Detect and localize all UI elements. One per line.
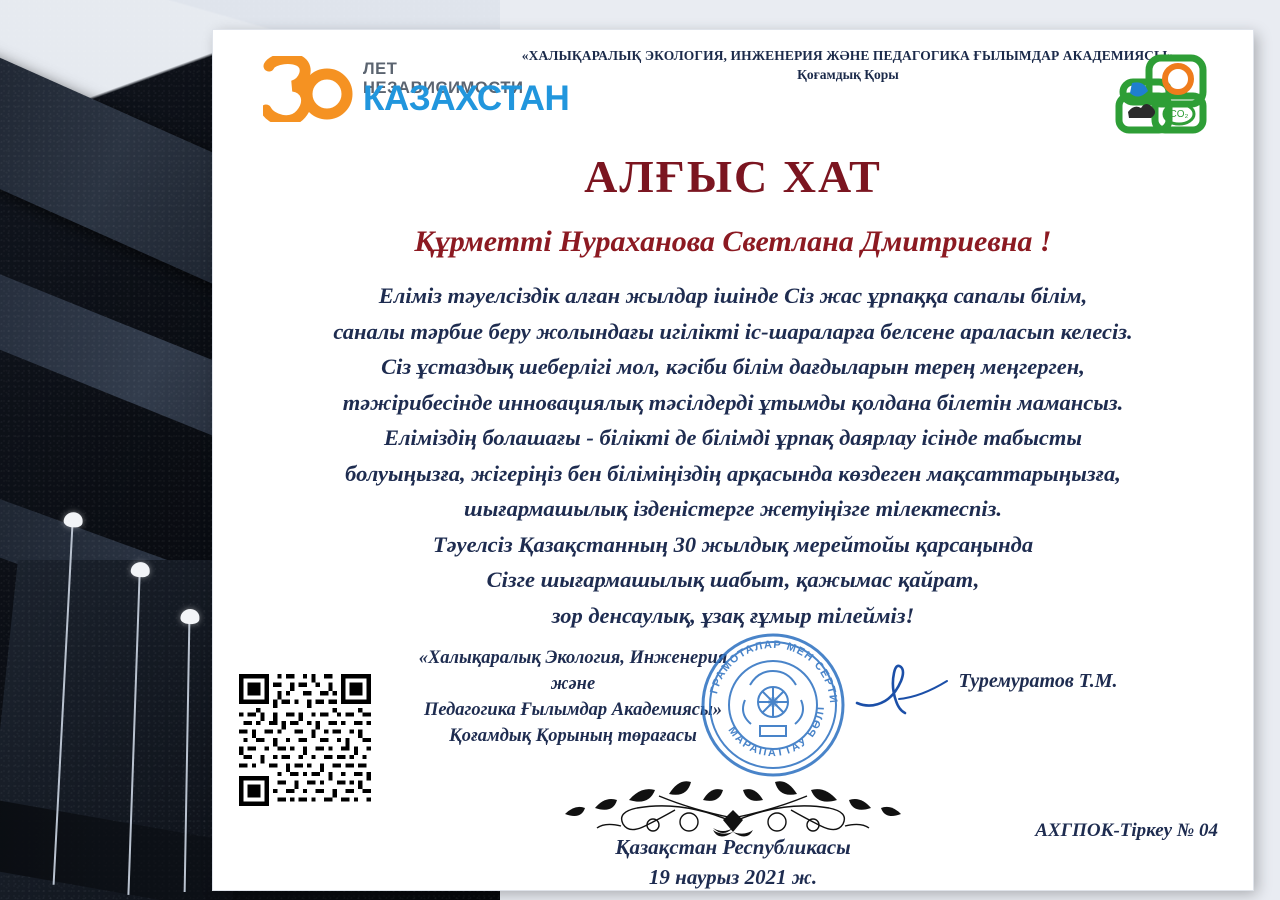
body-line: шығармашылық ізденістерге жетуіңізге тіл… [258,491,1208,527]
certificate-page: ЛЕТ НЕЗАВИСИМОСТИ КАЗАХСТАН «ХАЛЫҚАРАЛЫҚ… [213,30,1253,890]
qr-code-icon [235,670,375,810]
salutation: Құрметті Нураханова Светлана Дмитриевна … [213,225,1253,259]
eco-academy-emblem: CO₂ [1115,50,1211,136]
body-line: Еліміздің болашағы - білікті де білімді … [258,420,1208,456]
thirty-numeral-icon [263,56,355,122]
certificate-header: ЛЕТ НЕЗАВИСИМОСТИ КАЗАХСТАН «ХАЛЫҚАРАЛЫҚ… [213,30,1253,138]
svg-text:CO₂: CO₂ [1170,109,1189,120]
footer-date: 19 наурыз 2021 ж. [213,865,1253,890]
signature-stroke-icon [853,655,963,735]
body-line: тәжірибесінде инновациялық тәсілдерді ұт… [258,385,1208,421]
page-title: АЛҒЫС ХАТ [213,150,1253,203]
lamp-head-icon [131,562,151,578]
svg-text:ГРАМОТАЛАР МЕН СЕРТИФИКАТТАР Ү: ГРАМОТАЛАР МЕН СЕРТИФИКАТТАР ҮШІН [698,630,839,704]
body-line: болуыңызға, жігеріңіз бен біліміңіздің а… [258,456,1208,492]
lamp-head-icon [180,609,199,624]
logo-line-bottom: КАЗАХСТАН [363,80,569,118]
lamp-head-icon [63,512,83,528]
organization-title-line2: Қоғамдық Қоры [508,65,1188,84]
signature-title-block: «Халықаралық Экология, Инженерия және Пе… [408,645,738,749]
body-line: Тәуелсіз Қазақстанның 30 жылдық мерейтой… [258,527,1208,563]
signature-title-line: Қоғамдық Қорының төрағасы [408,723,738,749]
signature-title-line: Педагогика Ғылымдар Академиясы» [408,697,738,723]
body-line: Еліміз тәуелсіздік алған жылдар ішінде С… [258,278,1208,314]
body-line: Сізге шығармашылық шабыт, қажымас қайрат… [258,562,1208,598]
letter-body: Еліміз тәуелсіздік алған жылдар ішінде С… [258,278,1208,633]
body-line: саналы тәрбие беру жолындағы игілікті іс… [258,314,1208,350]
seal-outer-text: ГРАМОТАЛАР МЕН СЕРТИФИКАТТАР ҮШІН [698,630,839,704]
animal-icon [1128,104,1155,118]
body-line: зор денсаулық, ұзақ ғұмыр тілейміз! [258,598,1208,634]
organization-title-line1: «ХАЛЫҚАРАЛЫҚ ЭКОЛОГИЯ, ИНЖЕНЕРИЯ ЖӘНЕ ПЕ… [508,46,1188,65]
body-line: Сіз ұстаздық шеберлігі мол, кәсіби білім… [258,349,1208,385]
organization-title: «ХАЛЫҚАРАЛЫҚ ЭКОЛОГИЯ, ИНЖЕНЕРИЯ ЖӘНЕ ПЕ… [508,46,1188,84]
orange-recycle-circle-icon [1165,66,1191,92]
floral-ornament-divider [503,770,963,840]
registration-number: АХГПОК-Тіркеу № 04 [1035,820,1218,842]
official-round-seal: ГРАМОТАЛАР МЕН СЕРТИФИКАТТАР ҮШІН МАРАПА… [698,630,848,780]
thirty-years-independence-logo: ЛЕТ НЕЗАВИСИМОСТИ КАЗАХСТАН [263,56,523,128]
signature-title-line: «Халықаралық Экология, Инженерия және [408,645,738,697]
